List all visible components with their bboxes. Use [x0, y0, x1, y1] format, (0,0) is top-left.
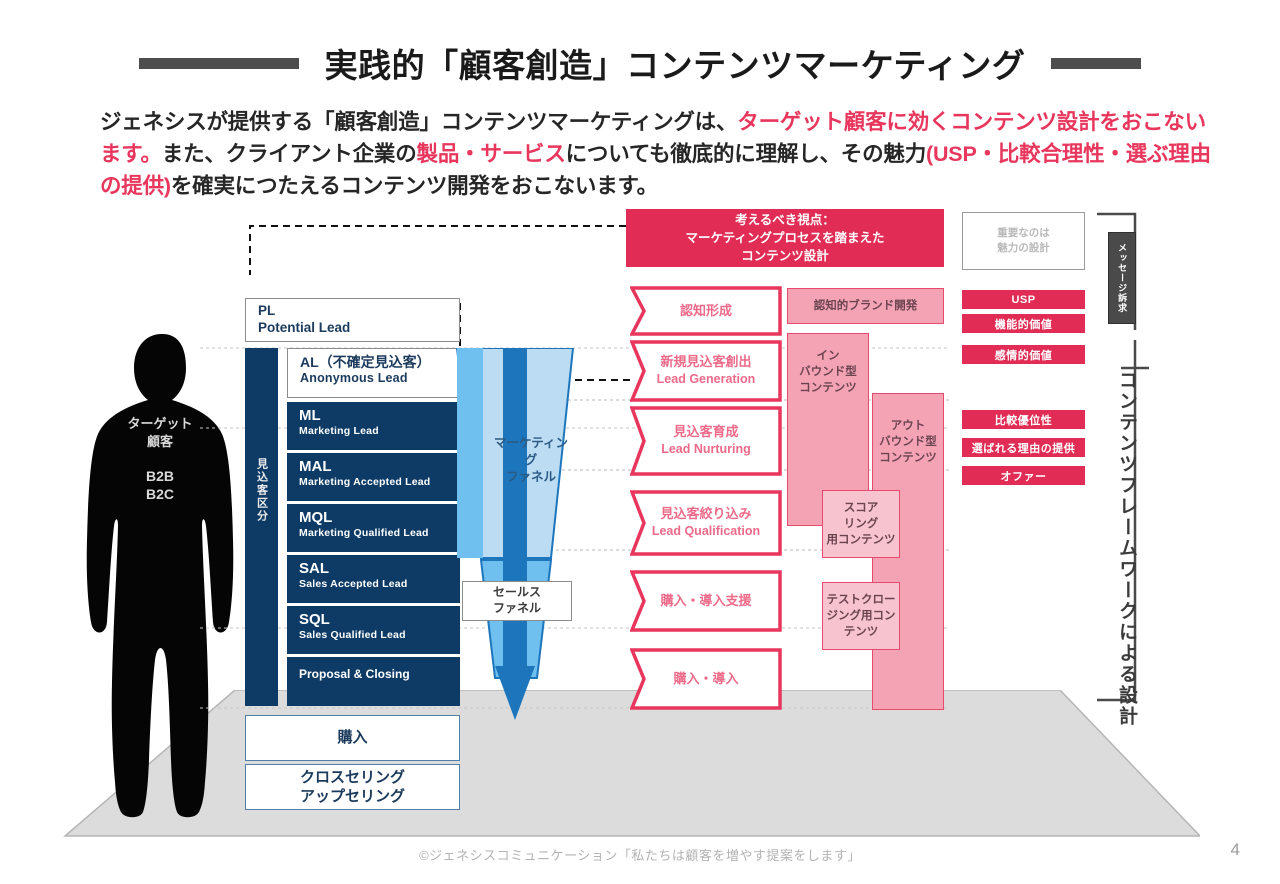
- stage-box-al: AL（不確定見込客） Anonymous Lead: [287, 348, 460, 398]
- stage-proposal-code: Proposal & Closing: [299, 662, 460, 682]
- framework-badge-emotional-value: 感情的価値: [962, 345, 1085, 364]
- target-customer-silhouette: [80, 330, 245, 820]
- process-header-line2: マーケティングプロセスを踏まえた: [685, 229, 884, 247]
- page-title: 実践的「顧客創造」コンテンツマーケティング: [325, 39, 1026, 87]
- content-outbound-line1: アウト: [891, 418, 926, 434]
- purchase-label: 購入: [337, 728, 367, 748]
- marketing-funnel-line2: ファネル: [490, 469, 572, 486]
- stage-box-ml: ML Marketing Lead: [287, 402, 460, 450]
- process-header-banner: 考えるべき視点： マーケティングプロセスを踏まえた コンテンツ設計: [626, 209, 944, 267]
- stage-sql-en: Sales Qualified Lead: [299, 629, 460, 642]
- page-number: 4: [1231, 840, 1240, 860]
- cross-sell-label: クロスセリング: [300, 768, 405, 788]
- sales-funnel-line2: ファネル: [493, 601, 541, 617]
- framework-note-box: 重要なのは 魅力の設計: [962, 212, 1085, 270]
- slide-title-row: 実践的「顧客創造」コンテンツマーケティング: [0, 40, 1280, 86]
- stage-sal-code: SAL: [299, 560, 460, 577]
- lead-highlight-3: 製品・サービス: [417, 142, 566, 166]
- stage-sql-code: SQL: [299, 611, 460, 628]
- content-type-brand: 認知的ブランド開発: [787, 288, 944, 324]
- content-inbound-line2: バウンド型: [799, 364, 857, 380]
- process-step-lead-generation: 新規見込客創出 Lead Generation: [630, 340, 782, 402]
- sales-funnel-label: セールス ファネル: [462, 581, 572, 621]
- framework-badge-comparative-advantage: 比較優位性: [962, 410, 1085, 429]
- process-step-4-ja: 見込客絞り込み: [660, 505, 751, 523]
- badge-reason-label: 選ばれる理由の提供: [972, 440, 1076, 456]
- framework-badge-offer: オファー: [962, 466, 1085, 485]
- content-scoring-line3: 用コンテンツ: [827, 532, 896, 548]
- content-scoring-line2: リング: [844, 516, 879, 532]
- stage-al-code: AL（不確定見込客）: [300, 354, 459, 370]
- process-step-awareness: 認知形成: [630, 286, 782, 336]
- lead-text-4: を確実につたえるコンテンツ開発をおこないます。: [171, 174, 658, 198]
- message-appeal-label: メッセージ訴求: [1117, 243, 1127, 313]
- process-step-lead-qualification: 見込客絞り込み Lead Qualification: [630, 490, 782, 556]
- process-step-2-ja: 新規見込客創出: [660, 353, 751, 371]
- stage-ml-code: ML: [299, 407, 460, 424]
- content-brand-label: 認知的ブランド開発: [814, 298, 918, 314]
- content-scoring-line1: スコア: [844, 500, 879, 516]
- content-outbound-line3: コンテンツ: [879, 450, 937, 466]
- badge-emotional-label: 感情的価値: [995, 347, 1053, 363]
- stage-box-sql: SQL Sales Qualified Lead: [287, 606, 460, 654]
- stage-box-sal: SAL Sales Accepted Lead: [287, 555, 460, 603]
- process-step-lead-nurturing: 見込客育成 Lead Nurturing: [630, 406, 782, 476]
- process-step-3-en: Lead Nurturing: [661, 441, 751, 459]
- footer-copyright: ©ジェネシスコミュニケーション「私たちは顧客を増やす提案をします」: [0, 845, 1280, 864]
- marketing-funnel-line1: マーケティング: [490, 435, 572, 469]
- process-header-line1: 考えるべき視点：: [735, 211, 835, 229]
- framework-note-line1: 重要なのは: [997, 226, 1050, 241]
- content-type-test-closing: テストクロー ジング用コン テンツ: [822, 582, 900, 650]
- framework-vertical-title: コンテンツフレームワークによる設計: [1106, 370, 1140, 727]
- stage-sal-en: Sales Accepted Lead: [299, 578, 460, 591]
- stage-mql-en: Marketing Qualified Lead: [299, 527, 460, 540]
- lead-paragraph: ジェネシスが提供する「顧客創造」コンテンツマーケティングは、ターゲット顧客に効く…: [100, 107, 1220, 202]
- title-rule-left: [139, 58, 299, 69]
- framework-note-line2: 魅力の設計: [997, 241, 1050, 256]
- funnel-graphic: [455, 348, 575, 723]
- stage-mql-code: MQL: [299, 509, 460, 526]
- stage-al-en: Anonymous Lead: [300, 371, 459, 386]
- lead-text-1: ジェネシスが提供する「顧客創造」コンテンツマーケティングは、: [100, 110, 737, 134]
- stage-mal-en: Marketing Accepted Lead: [299, 476, 460, 489]
- badge-comparative-label: 比較優位性: [995, 412, 1053, 428]
- framework-badge-reason-to-choose: 選ばれる理由の提供: [962, 438, 1085, 457]
- content-inbound-line1: イン: [817, 348, 840, 364]
- message-appeal-chip: メッセージ訴求: [1108, 232, 1136, 324]
- sales-funnel-line1: セールス: [493, 585, 541, 601]
- marketing-funnel-label: マーケティング ファネル: [490, 435, 572, 486]
- lead-highlight-4: (USP・比較合理性・選: [926, 142, 1147, 166]
- process-header-line3: コンテンツ設計: [741, 247, 829, 265]
- stage-pl-code: PL: [258, 303, 459, 320]
- lead-stage-column: 見込客区分 AL（不確定見込客） Anonymous Lead ML Marke…: [245, 348, 460, 706]
- stage-ml-en: Marketing Lead: [299, 425, 460, 438]
- lead-text-2: また、クライアント企業の: [162, 142, 417, 166]
- process-step-purchase: 購入・導入: [630, 648, 782, 710]
- lead-segment-bar: 見込客区分: [245, 348, 278, 706]
- content-testclose-line1: テストクロー: [827, 592, 896, 608]
- stage-box-pl: PL Potential Lead: [245, 298, 460, 342]
- badge-offer-label: オファー: [1001, 468, 1047, 484]
- purchase-box: 購入: [245, 715, 460, 761]
- badge-functional-label: 機能的価値: [995, 316, 1053, 332]
- content-testclose-line3: テンツ: [844, 624, 879, 640]
- content-testclose-line2: ジング用コン: [827, 608, 896, 624]
- content-outbound-line2: バウンド型: [879, 434, 937, 450]
- process-step-2-en: Lead Generation: [657, 371, 756, 389]
- lead-highlight-1: ターゲット顧客に効くコンテンツ設計をおこな: [737, 110, 1184, 134]
- stage-box-mal: MAL Marketing Accepted Lead: [287, 453, 460, 501]
- process-step-1-ja: 認知形成: [680, 302, 732, 320]
- lead-segment-label: 見込客区分: [254, 458, 270, 523]
- up-sell-label: アップセリング: [300, 787, 405, 807]
- stage-pl-en: Potential Lead: [258, 320, 459, 337]
- stage-mal-code: MAL: [299, 458, 460, 475]
- stage-box-mql: MQL Marketing Qualified Lead: [287, 504, 460, 552]
- slide-canvas: 実践的「顧客創造」コンテンツマーケティング ジェネシスが提供する「顧客創造」コン…: [0, 0, 1280, 884]
- framework-badge-functional-value: 機能的価値: [962, 314, 1085, 333]
- framework-badge-usp: USP: [962, 290, 1085, 309]
- stage-box-proposal-closing: Proposal & Closing: [287, 657, 460, 706]
- process-step-5-ja: 購入・導入支援: [660, 592, 751, 610]
- badge-usp-label: USP: [1011, 294, 1035, 306]
- lead-text-3: についても徹底的に理解し、その魅力: [566, 142, 926, 166]
- content-type-scoring: スコア リング 用コンテンツ: [822, 490, 900, 558]
- title-rule-right: [1051, 58, 1141, 69]
- process-step-purchase-support: 購入・導入支援: [630, 570, 782, 632]
- cross-upsell-box: クロスセリング アップセリング: [245, 764, 460, 810]
- process-step-6-ja: 購入・導入: [673, 670, 738, 688]
- process-step-4-en: Lead Qualification: [652, 523, 760, 541]
- process-step-3-ja: 見込客育成: [673, 423, 738, 441]
- content-inbound-line3: コンテンツ: [799, 380, 857, 396]
